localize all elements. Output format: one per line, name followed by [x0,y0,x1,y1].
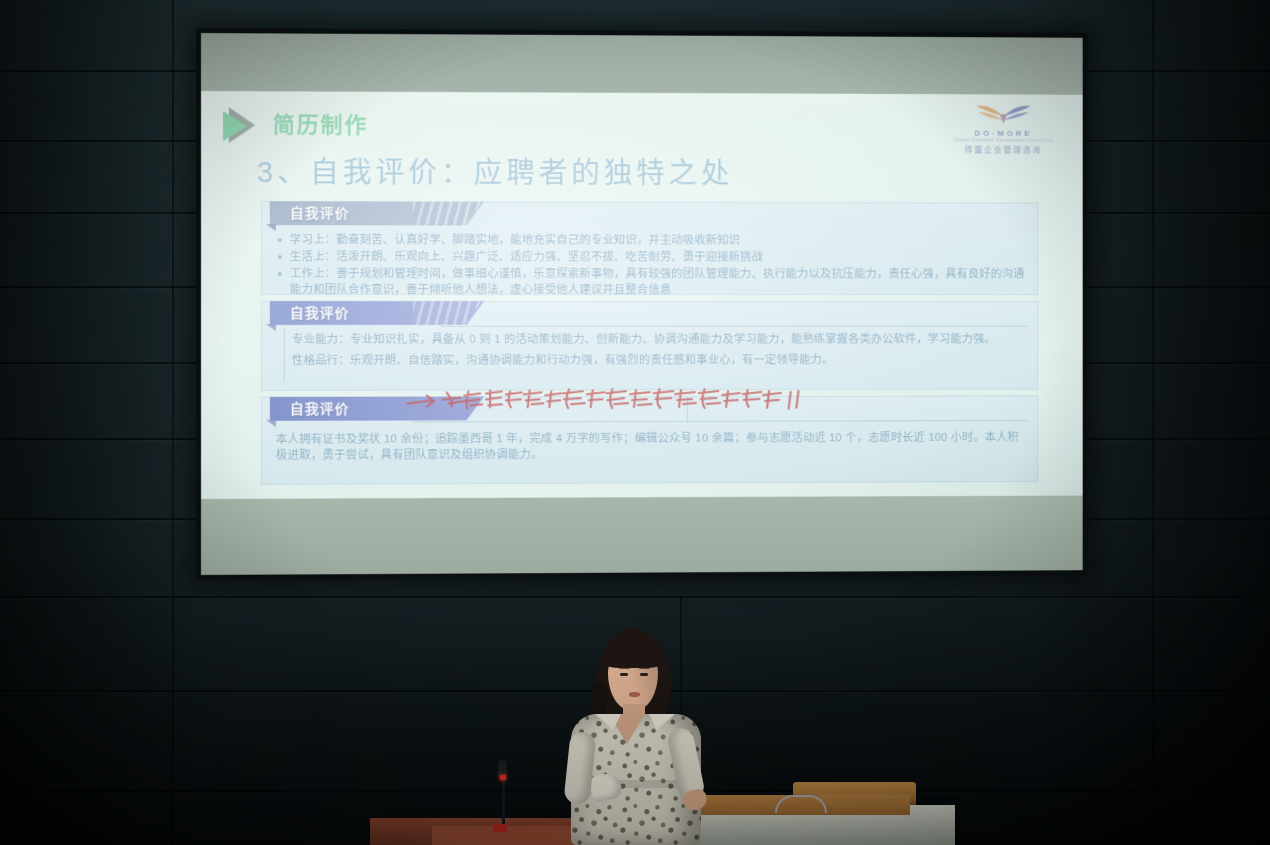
list-item: 工作上：善于规划和管理时间，做事细心谨慎，乐意探索新事物，具有较强的团队管理能力… [276,266,1026,298]
block-topline [441,326,1028,327]
list-item: 学习上：勤奋刻苦、认真好学、脚踏实地，能地充实自己的专业知识，并主动吸收新知识 [276,232,1026,249]
microphone-base [493,824,507,832]
content-block: 自我评价 [261,395,1038,484]
paragraph: 性格品行：乐观开朗、自信踏实，沟通协调能力和行动力强，有强烈的责任感和事业心，有… [292,352,1026,369]
eyebrow-left [619,667,630,669]
block-tab-label: 自我评价 [270,396,484,420]
logo-tagline: Human Resource Management Consulting [951,138,1056,143]
microphone-led-indicator [500,775,506,780]
block-hairline [687,397,688,423]
block-body: 学习上：勤奋刻苦、认真好学、脚踏实地，能地充实自己的专业知识，并主动吸收新知识 … [276,232,1026,299]
block-topline [411,420,1028,422]
slide-header: 简历制作 DO·MORE Human Resource Management C… [223,103,1061,152]
content-block: 自我评价 学习上：勤奋刻苦、认真好学、脚踏实地，能地充实自己的专业知识，并主动吸… [261,201,1038,295]
eyebrow-right [639,667,650,669]
eagle-wings-icon [974,100,1032,128]
paragraph: 本人拥有证书及奖状 10 余份；追踪墨西哥 1 年，完成 4 万字的写作；编辑公… [276,430,1026,464]
paragraph: 专业能力：专业知识扎实，具备从 0 到 1 的活动策划能力、创新能力、协调沟通能… [292,332,1026,348]
screen-surface: 简历制作 DO·MORE Human Resource Management C… [201,33,1083,575]
mouth [629,692,640,697]
tab-stripe-decoration [413,301,482,325]
slide-title: 3、自我评价：应聘者的独特之处 [257,149,733,192]
projection-screen: 简历制作 DO·MORE Human Resource Management C… [196,28,1088,580]
podium-handle [775,795,827,813]
tab-fold-shape [266,224,276,231]
photo-scene: 简历制作 DO·MORE Human Resource Management C… [0,0,1270,845]
presenter-person [545,628,725,845]
play-triangle-icon [223,107,263,143]
company-logo: DO·MORE Human Resource Management Consul… [951,100,1056,169]
list-item: 生活上：活泼开朗、乐观向上、兴趣广泛、适应力强、坚忍不拔、吃苦耐劳、勇于迎接新挑… [276,249,1026,266]
eye-right [640,673,648,676]
screen-fabric-top [201,33,1083,97]
tab-stripe-decoration [413,201,482,225]
content-block: 自我评价 专业能力：专业知识扎实，具备从 0 到 1 的活动策划能力、创新能力、… [261,301,1038,391]
logo-english: DO·MORE [951,129,1056,138]
tab-fold-shape [266,420,276,427]
tab-fold-shape [266,324,276,331]
projected-slide: 简历制作 DO·MORE Human Resource Management C… [201,91,1083,499]
bullet-list: 学习上：勤奋刻苦、认真好学、脚踏实地，能地充实自己的专业知识，并主动吸收新知识 … [276,232,1026,298]
eye-left [620,673,628,676]
slide-header-label: 简历制作 [273,107,369,139]
block-body: 专业能力：专业知识扎实，具备从 0 到 1 的活动策划能力、创新能力、协调沟通能… [276,332,1026,369]
block-body: 本人拥有证书及奖状 10 余份；追踪墨西哥 1 年，完成 4 万字的写作；编辑公… [276,430,1026,470]
logo-chinese: 得盟企业管理咨询 [951,144,1056,155]
